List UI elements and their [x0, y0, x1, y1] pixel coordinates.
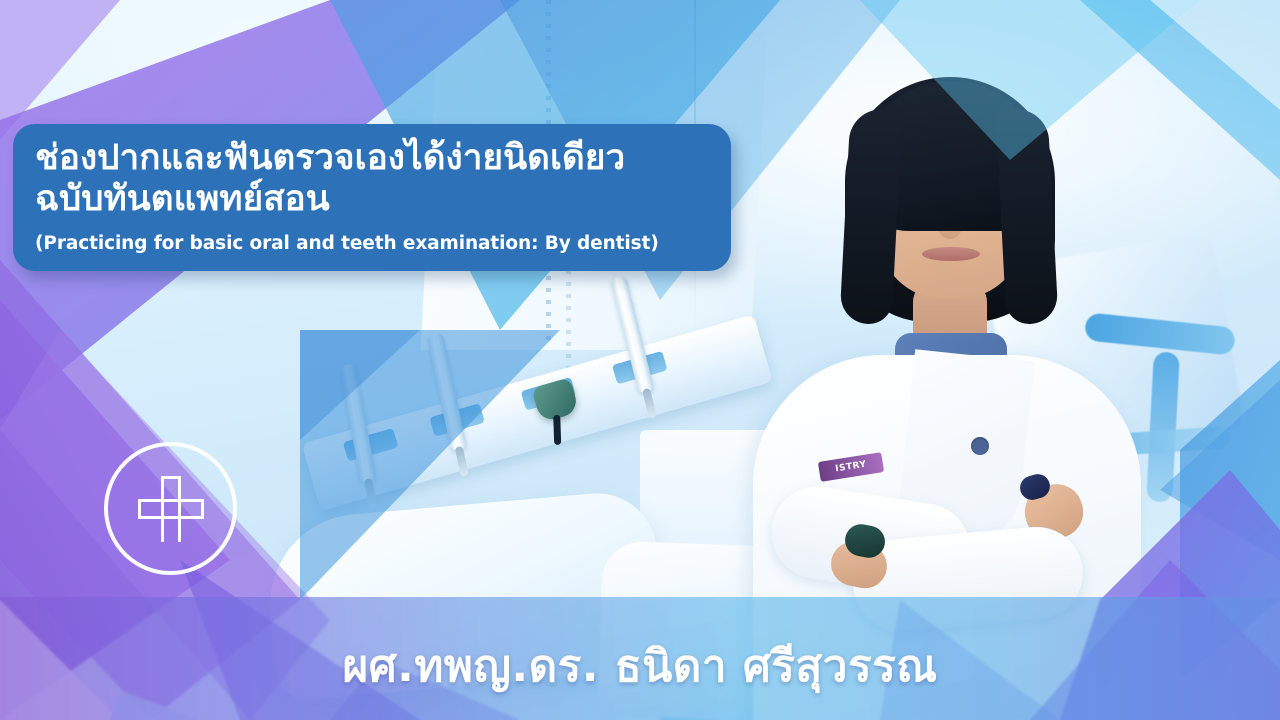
coat-patch-label: ISTRY: [835, 460, 868, 475]
title-slide: ISTRY: [0, 0, 1280, 720]
coat-button: [971, 437, 989, 455]
title-line-2: ฉบับทันตแพทย์สอน: [35, 179, 709, 220]
title-line-1: ช่องปากและฟันตรวจเองได้ง่ายนิดเดียว: [35, 138, 709, 179]
medical-cross-circle-icon: [104, 442, 237, 575]
subtitle-english: (Practicing for basic oral and teeth exa…: [35, 232, 709, 255]
title-card: ช่องปากและฟันตรวจเองได้ง่ายนิดเดียว ฉบับ…: [13, 124, 731, 271]
cross-outline: [138, 476, 204, 542]
cross-horizontal-bar: [138, 499, 204, 519]
presenter-name: ผศ.ทพญ.ดร. ธนิดา ศรีสุวรรณ: [0, 631, 1280, 701]
mouth: [922, 247, 980, 261]
hair-side-right: [995, 108, 1058, 325]
